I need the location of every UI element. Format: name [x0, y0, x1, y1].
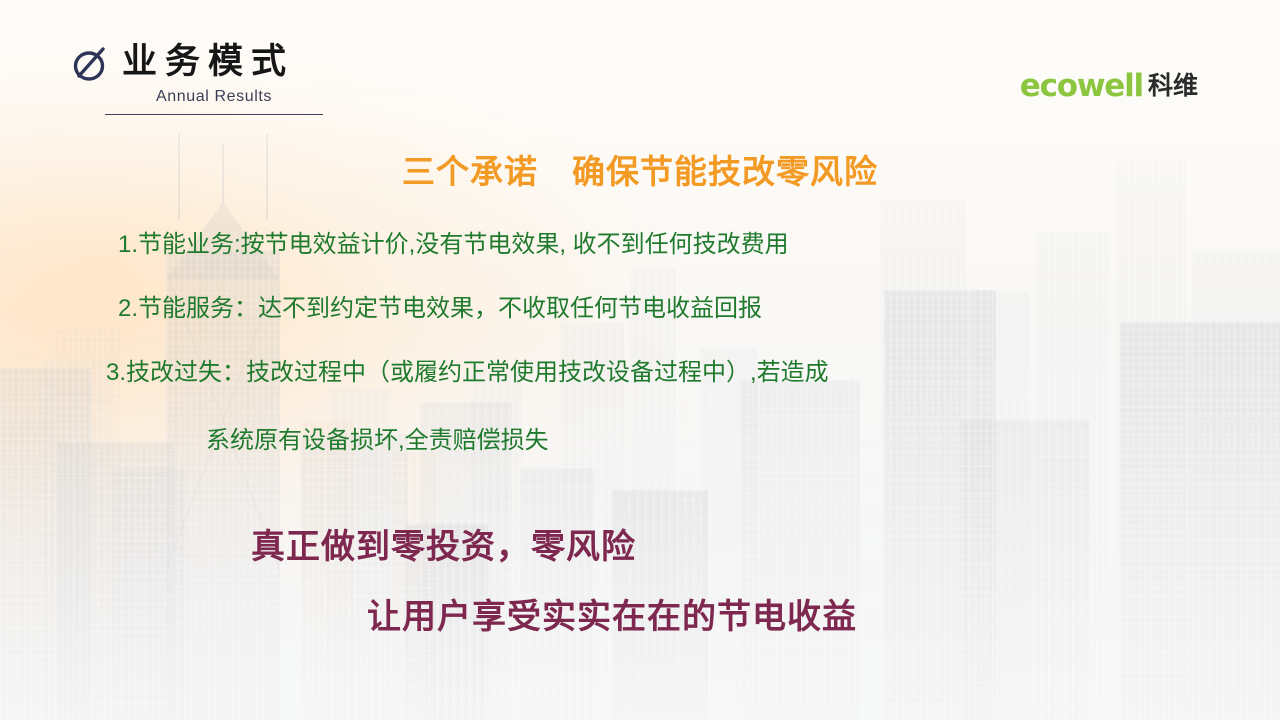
title-underline — [105, 114, 323, 115]
slide-header: 业务模式 Annual Results ecowell 科维 — [0, 0, 1280, 130]
slashed-circle-icon — [68, 41, 112, 85]
list-item: 2.节能服务：达不到约定节电效果，不收取任何节电收益回报 — [118, 297, 762, 321]
section-headline: 三个承诺 确保节能技改零风险 — [0, 145, 1280, 193]
list-item: 1.节能业务:按节电效益计价,没有节电效果, 收不到任何技改费用 — [118, 233, 789, 257]
conclusion-line-1: 真正做到零投资，零风险 — [251, 531, 636, 565]
conclusion-line-2: 让用户享受实实在在的节电收益 — [367, 601, 857, 635]
page-title: 业务模式 — [122, 33, 294, 84]
list-item-continuation: 系统原有设备损坏,全责赔偿损失 — [206, 429, 549, 453]
logo-wordmark: ecowell — [1020, 71, 1143, 102]
list-item: 3.技改过失：技改过程中（或履约正常使用技改设备过程中）,若造成 — [106, 361, 829, 385]
logo-chinese-name: 科维 — [1148, 74, 1198, 99]
page-subtitle: Annual Results — [105, 88, 323, 106]
presentation-slide: 业务模式 Annual Results ecowell 科维 三个承诺 确保节能… — [0, 0, 1280, 720]
company-logo: ecowell 科维 — [1020, 71, 1198, 102]
